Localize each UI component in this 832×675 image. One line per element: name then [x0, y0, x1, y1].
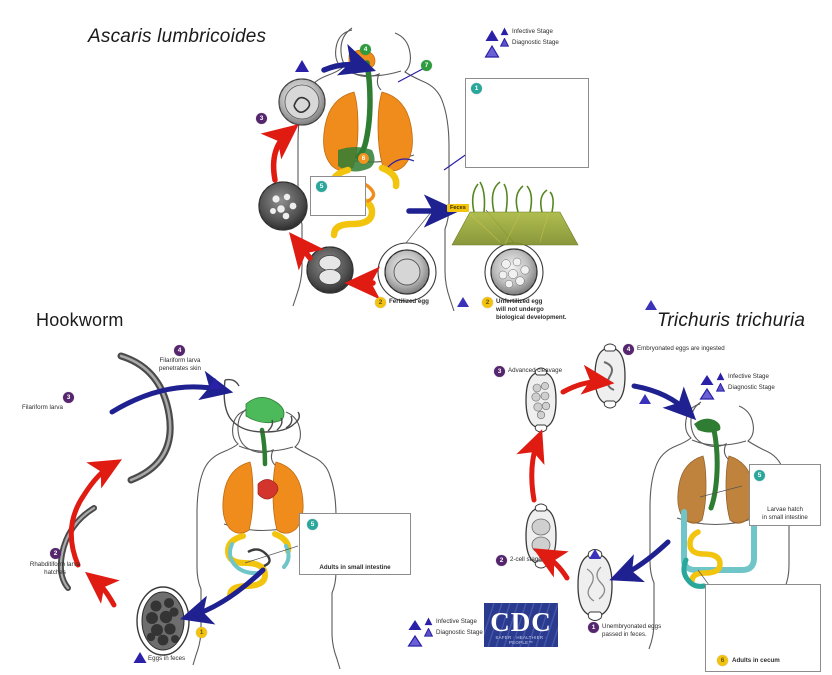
legend-label-diagnostic: Diagnostic Stage: [512, 38, 559, 47]
trichuris-step-4-badge: 4: [623, 344, 634, 355]
trichuris-step-6-badge: 6: [717, 655, 728, 666]
hookworm-rhabditiform-label-1: Rhabditiform larva: [20, 561, 90, 568]
trichuris-adults-cecum-label: Adults in cecum: [732, 657, 780, 664]
legend-row-diagnostic: Diagnostic Stage: [500, 38, 559, 47]
hookworm-red-arrows: [71, 465, 114, 605]
ascaris-step-5-badge: 5: [316, 181, 327, 192]
ascaris-unfertilized-egg-badge: 2: [482, 297, 493, 308]
diagnostic-triangle-trichuris: [701, 389, 714, 399]
hookworm-adults-label: Adults in small intestine: [299, 564, 411, 571]
ascaris-egg-2cell: [307, 247, 353, 293]
ascaris-fertilized-egg-label: Fertilized egg: [389, 298, 429, 305]
legend-label-diagnostic: Diagnostic Stage: [436, 628, 483, 637]
ascaris-feces-tag: Feces: [447, 204, 469, 212]
ascaris-legend: Infective Stage Diagnostic Stage: [500, 27, 559, 49]
cdc-logo-wordmark: CDC: [484, 607, 558, 637]
hookworm-rhabditiform-label-2: hatches: [20, 569, 90, 576]
ascaris-unfertilized-egg-inset: [485, 243, 543, 301]
ascaris-title: Ascaris lumbricoides: [88, 26, 266, 48]
stage-marker-fertilized: [457, 297, 469, 307]
stage-marker-ascaris-infective: [295, 60, 309, 72]
ascaris-adults-inset-frame: [465, 78, 589, 168]
hookworm-title: Hookworm: [36, 310, 124, 331]
infective-stage-icon: [500, 27, 509, 36]
ascaris-unfertilized-egg-label-1: Unfertilized egg: [496, 298, 542, 305]
legend-row-infective: Infective Stage: [716, 372, 775, 381]
trichuris-advanced-cleavage-label: Advanced cleavage: [508, 367, 562, 374]
diagnostic-stage-icon: [500, 38, 509, 47]
ascaris-fertilized-egg-badge: 2: [375, 297, 386, 308]
hookworm-step-2-badge: 2: [50, 548, 61, 559]
ascaris-egg-infective: [279, 79, 325, 125]
hookworm-legend: Infective Stage Diagnostic Stage: [424, 617, 483, 639]
ascaris-step-3-badge: 3: [256, 113, 267, 124]
hookworm-egg-art: [137, 587, 189, 655]
hookworm-filariform-label: Filariform larva: [22, 404, 63, 411]
ascaris-liver: [338, 147, 375, 172]
ascaris-step-4-badge: 4: [360, 44, 371, 55]
stage-marker-hookworm-infective: [209, 378, 222, 389]
trichuris-step-1-badge: 1: [588, 622, 599, 633]
trichuris-esophagus: [711, 430, 717, 508]
trichuris-title: Trichuris trichuria: [657, 310, 805, 332]
infective-stage-icon: [716, 372, 725, 381]
infective-triangle-trichuris: [701, 375, 714, 385]
ascaris-step-7-badge: 7: [421, 60, 432, 71]
hookworm-step-5-badge: 5: [307, 519, 318, 530]
hookworm-step-3-badge: 3: [63, 392, 74, 403]
legend-row-diagnostic: Diagnostic Stage: [716, 383, 775, 392]
ascaris-fertilized-egg-inset: [378, 243, 436, 301]
hookworm-brain: [246, 397, 284, 422]
diagnostic-stage-icon: [424, 628, 433, 637]
trichuris-step-3-badge: 3: [494, 366, 505, 377]
trichuris-egg-unembryonated: [578, 550, 612, 621]
trichuris-small-intestine: [690, 532, 720, 581]
stage-marker-unfertilized: [645, 300, 657, 310]
trichuris-legend: Infective Stage Diagnostic Stage: [716, 372, 775, 394]
trichuris-egg-embryonated: [595, 344, 625, 408]
trichuris-step-2-badge: 2: [496, 555, 507, 566]
legend-label-infective: Infective Stage: [512, 27, 553, 36]
legend-label-infective: Infective Stage: [436, 617, 477, 626]
trichuris-unembryonated-label-2: passed in feces.: [602, 631, 647, 638]
trichuris-embryonated-label: Embryonated eggs are ingested: [637, 345, 725, 352]
cdc-logo-tagline: SAFER · HEALTHIER · PEOPLE™: [484, 635, 558, 645]
cdc-logo: CDC SAFER · HEALTHIER · PEOPLE™: [484, 603, 558, 647]
infective-triangle-hookworm: [409, 620, 422, 630]
life-cycle-artwork: [0, 0, 832, 675]
infective-stage-icon: [424, 617, 433, 626]
trichuris-step-5-badge: 5: [754, 470, 765, 481]
hookworm-eggs-in-feces-label: Eggs in feces: [148, 655, 185, 662]
legend-label-diagnostic: Diagnostic Stage: [728, 383, 775, 392]
ascaris-inset-badge: 1: [471, 83, 482, 94]
hookworm-step-4-badge: 4: [174, 345, 185, 356]
trichuris-unembryonated-label-1: Unembryonated eggs: [602, 623, 661, 630]
trichuris-egg-cleavage: [526, 368, 556, 432]
ascaris-unfertilized-egg-label-2: will not undergo: [496, 306, 544, 313]
trichuris-two-cell-label: 2-cell stage: [510, 556, 542, 563]
ascaris-unfertilized-egg-label-3: biological development.: [496, 314, 566, 321]
legend-row-diagnostic: Diagnostic Stage: [424, 628, 483, 637]
trichuris-larvae-hatch-label-2: in small intestine: [749, 514, 821, 521]
infective-triangle-ascaris: [486, 30, 499, 41]
diagnostic-triangle-hookworm: [409, 636, 422, 646]
hookworm-esophagus: [262, 430, 265, 464]
diagnostic-stage-icon: [716, 383, 725, 392]
hookworm-step-1-badge: 1: [196, 627, 207, 638]
ascaris-step-6-badge: 6: [358, 153, 369, 164]
hookworm-penetrates-label-1: Filariform larva: [151, 357, 209, 364]
hookworm-filariform-larva-art: [121, 356, 170, 480]
legend-row-infective: Infective Stage: [500, 27, 559, 36]
diagnostic-triangle-ascaris: [486, 46, 499, 57]
hookworm-penetrates-label-2: penetrates skin: [151, 365, 209, 372]
stage-marker-hookworm-diagnostic: [134, 652, 147, 663]
ascaris-soil-patch: [452, 182, 578, 245]
legend-label-infective: Infective Stage: [728, 372, 769, 381]
stage-marker-trichuris-infective: [639, 394, 651, 404]
legend-row-infective: Infective Stage: [424, 617, 483, 626]
ascaris-egg-larvated: [259, 182, 307, 230]
trichuris-larvae-hatch-label-1: Larvae hatch: [749, 506, 821, 513]
grass-blades: [473, 182, 553, 212]
ascaris-esophagus: [358, 63, 370, 157]
figure-canvas: Ascaris lumbricoides Hookworm Trichuris …: [0, 0, 832, 675]
